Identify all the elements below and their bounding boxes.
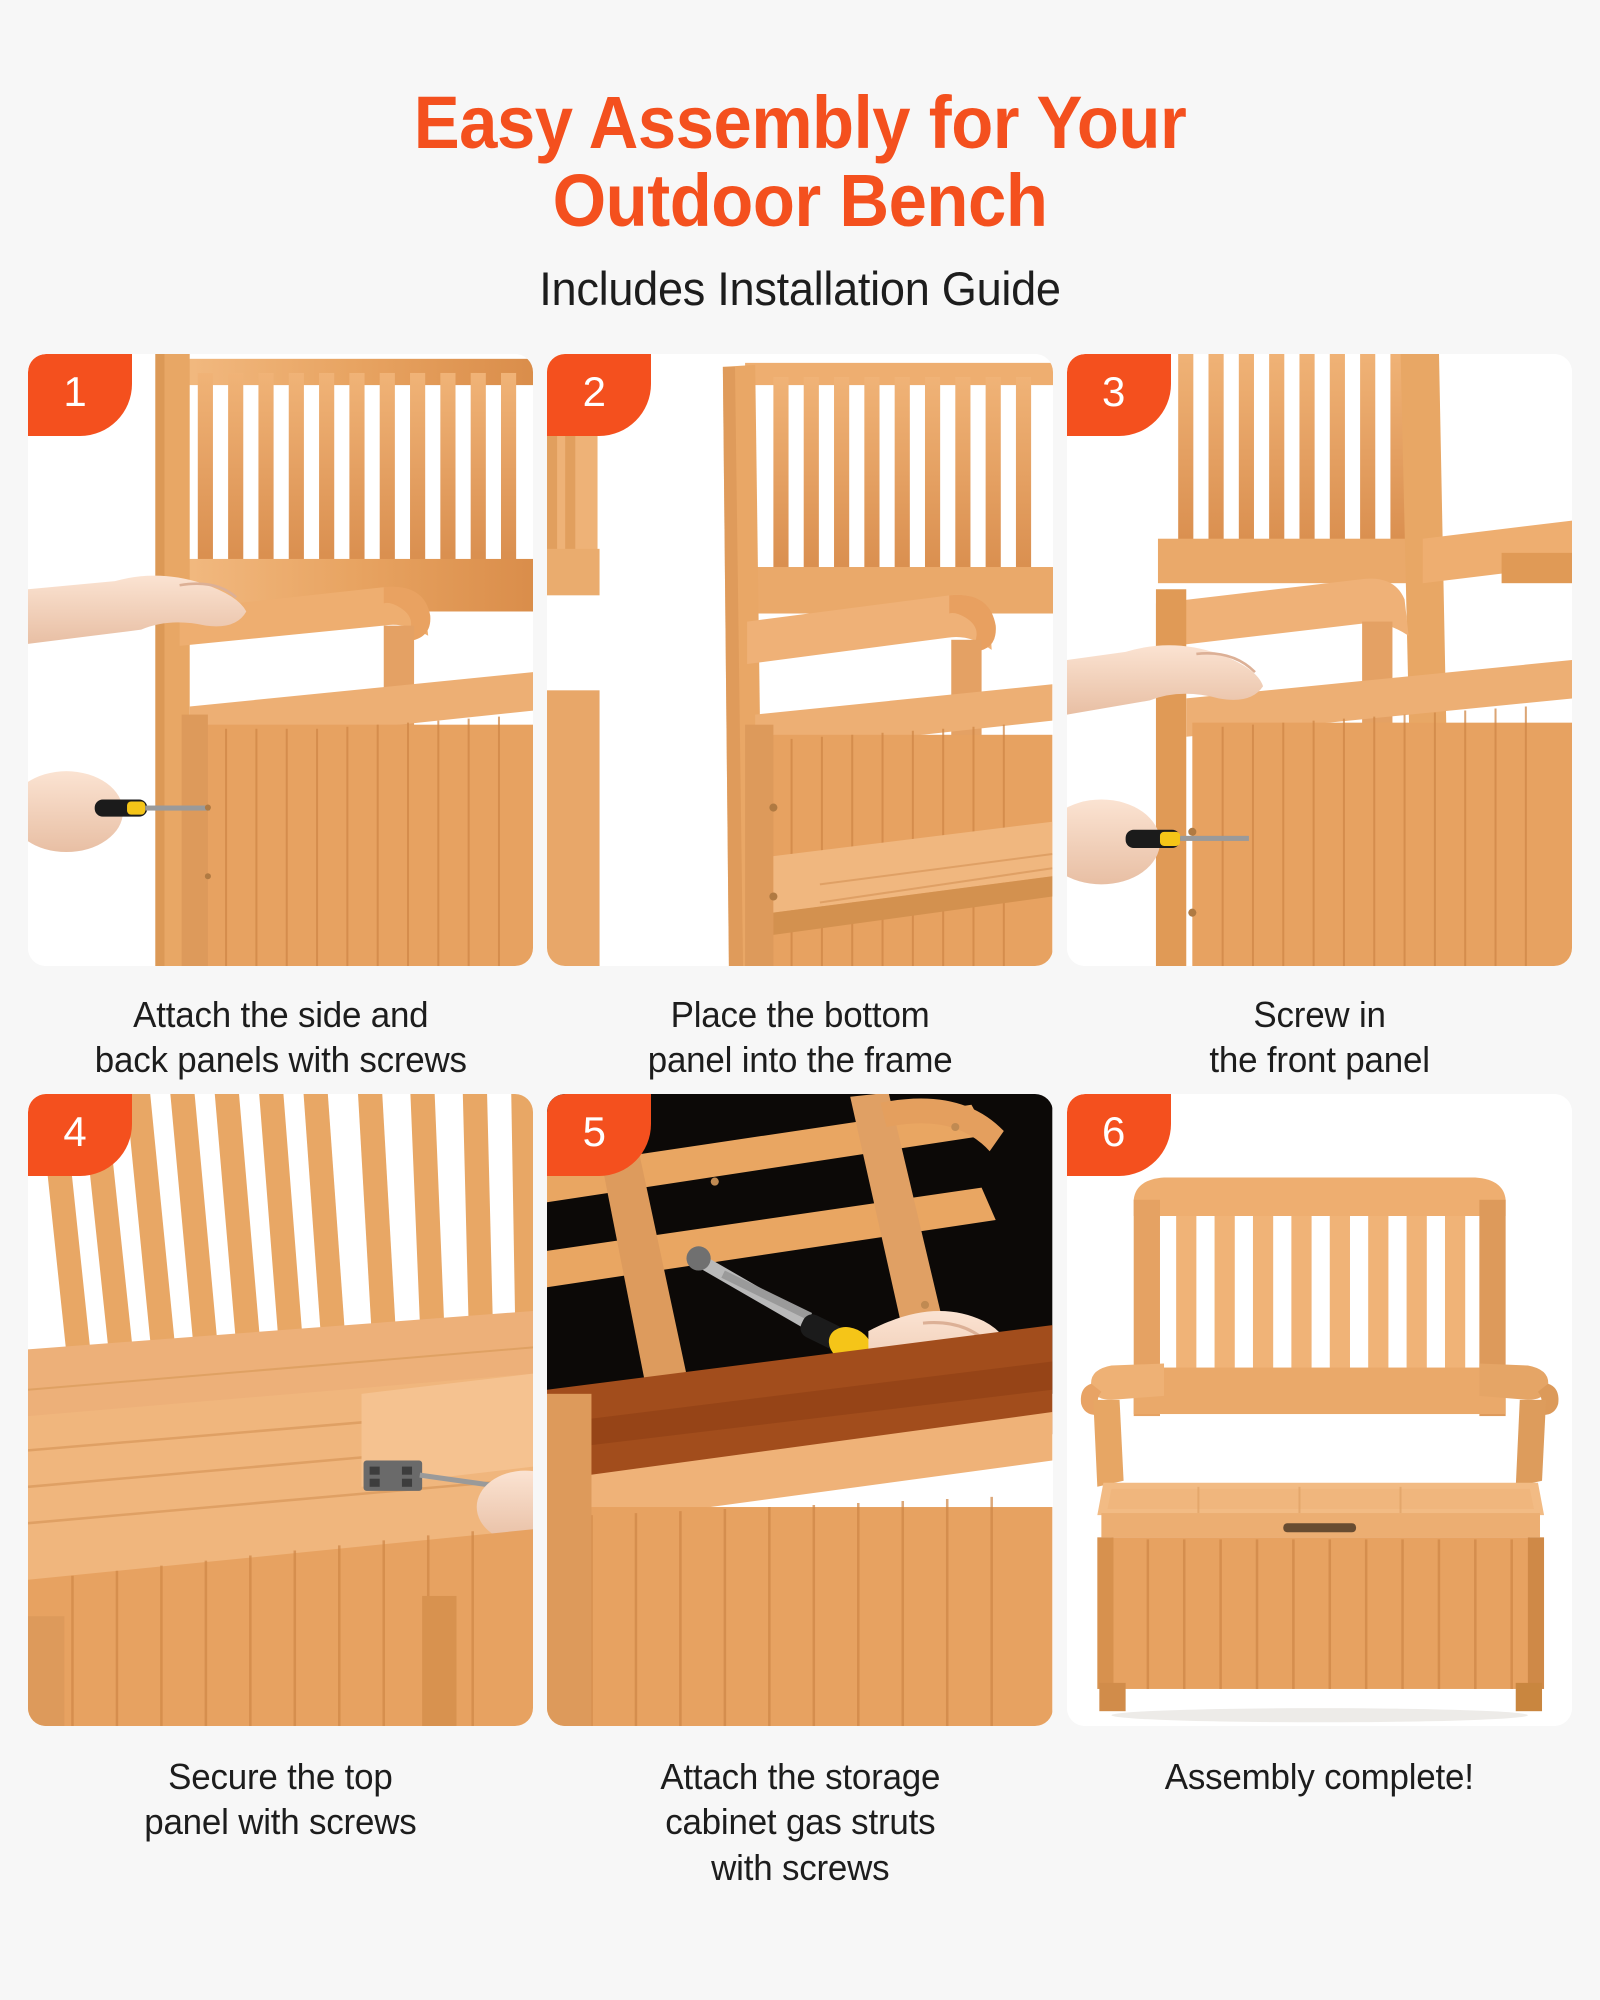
header: Easy Assembly for Your Outdoor Bench Inc… xyxy=(0,0,1600,316)
step-5-card[interactable]: 5 xyxy=(547,1094,1052,1726)
step-4-card[interactable]: 4 xyxy=(28,1094,533,1726)
step-1: 1 Attach the side and back panels with s… xyxy=(28,354,533,1088)
step-4-caption: Secure the top panel with screws xyxy=(145,1754,417,1850)
step-2-caption: Place the bottom panel into the frame xyxy=(648,992,953,1088)
step-4-photo xyxy=(28,1094,533,1726)
steps-grid: 1 Attach the side and back panels with s… xyxy=(28,354,1572,1890)
step-3: 3 Screw in the front panel xyxy=(1067,354,1572,1088)
page-title: Easy Assembly for Your Outdoor Bench xyxy=(56,84,1544,241)
step-5-photo xyxy=(547,1094,1052,1726)
hinge-icon xyxy=(364,1460,423,1490)
step-6-card[interactable]: 6 xyxy=(1067,1094,1572,1726)
page-subtitle: Includes Installation Guide xyxy=(32,261,1568,316)
infographic-page: Easy Assembly for Your Outdoor Bench Inc… xyxy=(0,0,1600,2000)
step-5: 5 Attach the storage cabinet gas struts … xyxy=(547,1094,1052,1890)
step-2-photo xyxy=(547,354,1052,966)
step-6: 6 Assembly complete! xyxy=(1067,1094,1572,1890)
step-2: 2 Place the bottom panel into the frame xyxy=(547,354,1052,1088)
step-1-photo xyxy=(28,354,533,966)
step-3-photo xyxy=(1067,354,1572,966)
step-5-caption: Attach the storage cabinet gas struts wi… xyxy=(660,1754,940,1890)
step-3-caption: Screw in the front panel xyxy=(1209,992,1429,1088)
step-4: 4 Secure the top panel with screws xyxy=(28,1094,533,1890)
step-6-photo xyxy=(1067,1094,1572,1726)
title-line-1: Easy Assembly for Your xyxy=(56,84,1544,162)
step-1-card[interactable]: 1 xyxy=(28,354,533,966)
step-3-card[interactable]: 3 xyxy=(1067,354,1572,966)
step-2-card[interactable]: 2 xyxy=(547,354,1052,966)
title-line-2: Outdoor Bench xyxy=(56,162,1544,240)
step-6-caption: Assembly complete! xyxy=(1165,1754,1474,1850)
step-1-caption: Attach the side and back panels with scr… xyxy=(95,992,467,1088)
